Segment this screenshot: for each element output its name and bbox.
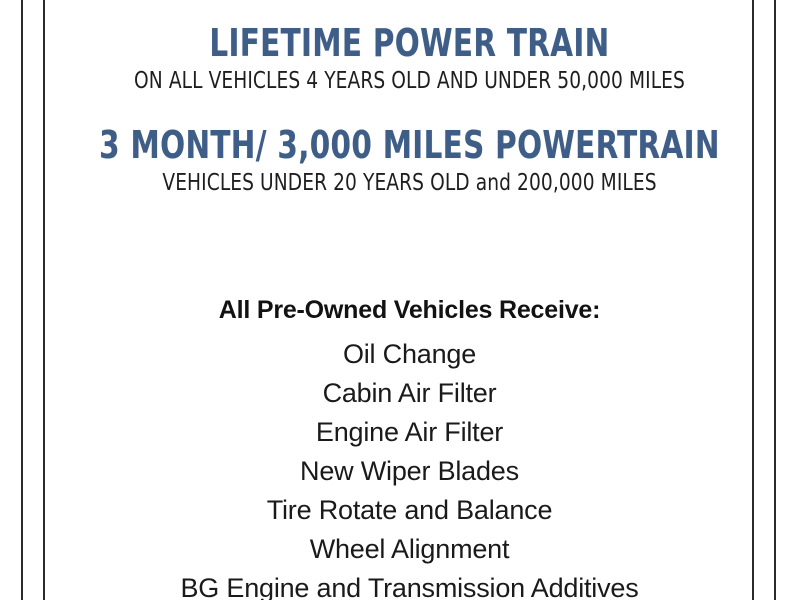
service-item: Wheel Alignment [45, 530, 774, 569]
service-item: Oil Change [45, 335, 774, 374]
frame-rule-outer-left [21, 0, 23, 600]
warranty-subtitle-three-month-powertrain: VEHICLES UNDER 20 YEARS OLD and 200,000 … [81, 170, 737, 196]
services-section: All Pre-Owned Vehicles Receive: Oil Chan… [45, 298, 774, 600]
service-item: New Wiper Blades [45, 452, 774, 491]
warranty-subtitle-lifetime-powertrain: ON ALL VEHICLES 4 YEARS OLD AND UNDER 50… [81, 68, 737, 94]
service-item: Cabin Air Filter [45, 374, 774, 413]
service-item: Engine Air Filter [45, 413, 774, 452]
warranty-title-lifetime-powertrain: LIFETIME POWER TRAIN [96, 24, 723, 63]
warranty-block-three-month-powertrain: 3 MONTH/ 3,000 MILES POWERTRAIN VEHICLES… [45, 94, 774, 196]
frame-rule-outer-right [774, 0, 776, 600]
warranty-block-lifetime-powertrain: LIFETIME POWER TRAIN ON ALL VEHICLES 4 Y… [45, 0, 774, 94]
service-item: BG Engine and Transmission Additives [45, 569, 774, 600]
flyer-content: LIFETIME POWER TRAIN ON ALL VEHICLES 4 Y… [45, 0, 774, 600]
promo-flyer: LIFETIME POWER TRAIN ON ALL VEHICLES 4 Y… [0, 0, 800, 600]
warranty-title-three-month-powertrain: 3 MONTH/ 3,000 MILES POWERTRAIN [96, 126, 723, 165]
service-item: Tire Rotate and Balance [45, 491, 774, 530]
services-heading: All Pre-Owned Vehicles Receive: [45, 298, 774, 323]
